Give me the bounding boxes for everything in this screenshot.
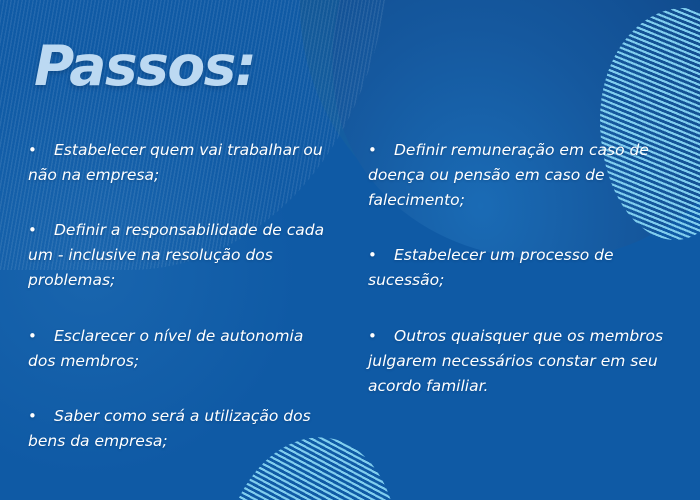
list-item: • Outros quaisquer que os membros julgar… xyxy=(368,324,678,399)
list-item: • Estabelecer um processo de sucessão; xyxy=(368,243,678,293)
bullet-column-left: • Estabelecer quem vai trabalhar ou não … xyxy=(0,138,350,454)
list-item-label: Definir a responsabilidade de cada um - … xyxy=(28,218,328,293)
slide-canvas: Passos: • Estabelecer quem vai trabalhar… xyxy=(0,0,700,500)
list-item-label: Estabelecer quem vai trabalhar ou não na… xyxy=(28,138,328,188)
list-item: • Esclarecer o nível de autonomia dos me… xyxy=(28,324,328,374)
slide-title: Passos: xyxy=(34,34,255,98)
list-item-label: Esclarecer o nível de autonomia dos memb… xyxy=(28,324,328,374)
bullet-columns: • Estabelecer quem vai trabalhar ou não … xyxy=(0,138,700,454)
bullet-column-right: • Definir remuneração em caso de doença … xyxy=(350,138,700,454)
slide-content: Passos: • Estabelecer quem vai trabalhar… xyxy=(0,0,700,500)
list-item-label: Outros quaisquer que os membros julgarem… xyxy=(368,324,678,399)
list-item: • Definir a responsabilidade de cada um … xyxy=(28,218,328,293)
list-item-label: Estabelecer um processo de sucessão; xyxy=(368,243,678,293)
list-item: • Saber como será a utilização dos bens … xyxy=(28,404,328,454)
list-item: • Estabelecer quem vai trabalhar ou não … xyxy=(28,138,328,188)
list-item-label: Definir remuneração em caso de doença ou… xyxy=(368,138,678,213)
list-item: • Definir remuneração em caso de doença … xyxy=(368,138,678,213)
list-item-label: Saber como será a utilização dos bens da… xyxy=(28,404,328,454)
